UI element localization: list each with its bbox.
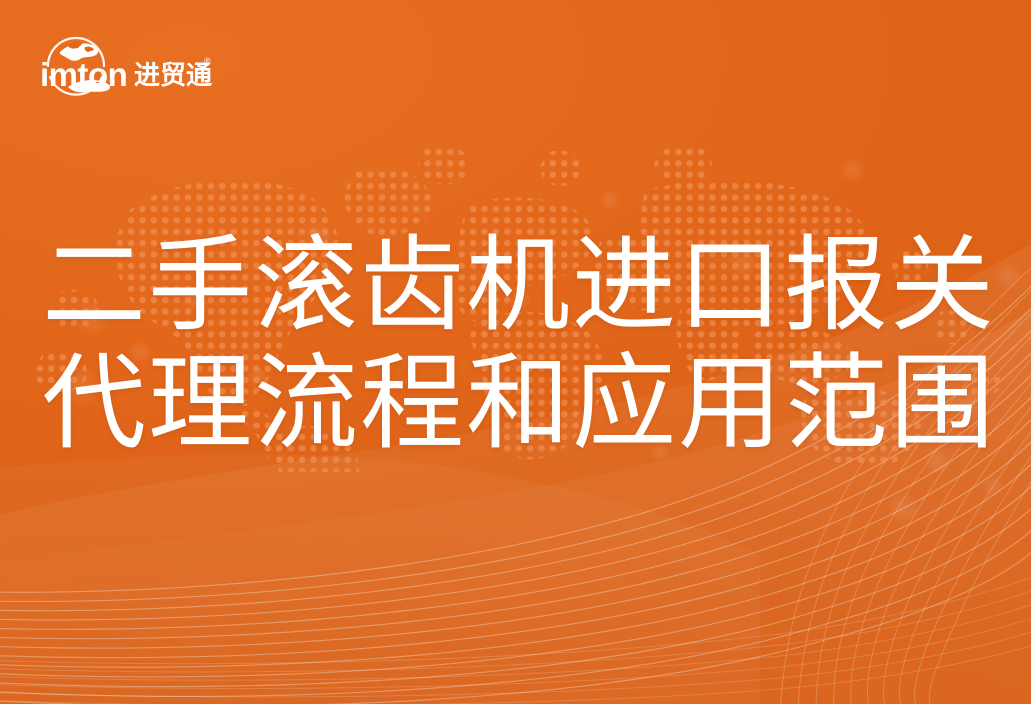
logo-wordmark: imton <box>40 56 127 93</box>
imton-logo[interactable]: imton 进贸通 ® <box>38 30 214 102</box>
promo-banner: imton 进贸通 ® 二手滚齿机进口报关 代理流程和应用范围 <box>0 0 1031 704</box>
logo-chinese-name: 进贸通 <box>134 60 212 90</box>
title-line-1: 二手滚齿机进口报关 <box>42 228 990 346</box>
title-line-2: 代理流程和应用范围 <box>42 346 990 464</box>
trademark-icon: ® <box>204 56 211 66</box>
logo-artwork: imton 进贸通 ® <box>38 30 214 102</box>
page-title: 二手滚齿机进口报关 代理流程和应用范围 <box>42 228 990 464</box>
